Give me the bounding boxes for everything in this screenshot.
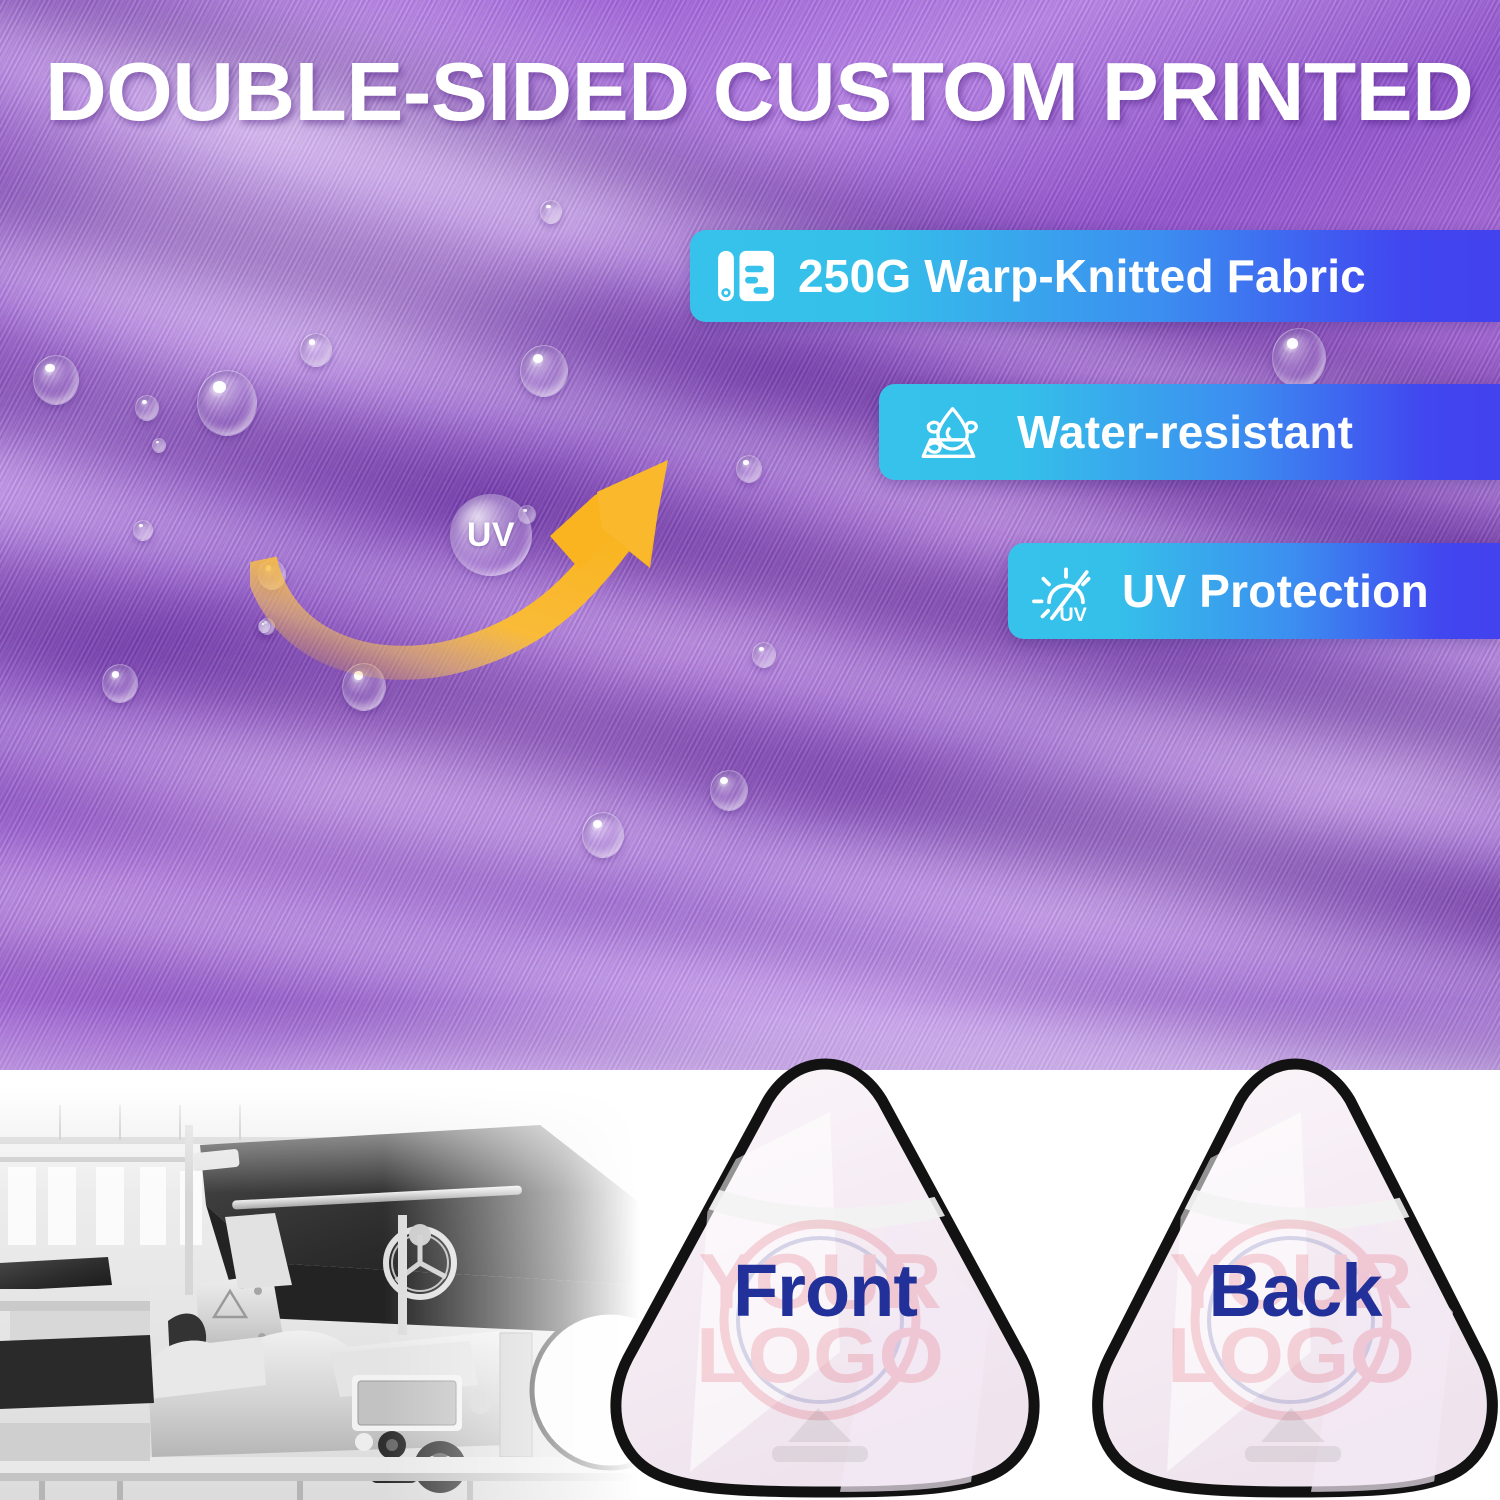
fabric-highlight [150, 690, 670, 920]
feature-badge-uv[interactable]: UV UV Protection [1008, 543, 1500, 639]
water-droplet [736, 455, 762, 483]
feature-badge-fabric-label: 250G Warp-Knitted Fabric [798, 249, 1406, 303]
water-droplet [133, 520, 153, 541]
feature-badge-uv-label: UV Protection [1122, 564, 1469, 618]
svg-text:UV: UV [1059, 604, 1087, 623]
fabric-background-image [0, 0, 1500, 1070]
water-droplet [1272, 328, 1326, 388]
water-droplet [152, 438, 166, 453]
factory-machine-photo [0, 1085, 640, 1500]
uv-bubble-badge: UV [450, 494, 532, 576]
water-droplet [135, 395, 159, 421]
water-droplet [710, 770, 748, 811]
banner-back-label: Back [1075, 1248, 1500, 1333]
water-droplet [197, 370, 257, 436]
uv-bubble-label: UV [467, 516, 515, 555]
banner-preview-front[interactable]: YOUR LOGO Front [590, 1052, 1060, 1500]
banner-preview-back[interactable]: YOUR LOGO Back [1075, 1052, 1500, 1500]
feature-badge-fabric[interactable]: 250G Warp-Knitted Fabric [690, 230, 1500, 322]
feature-badge-water[interactable]: Water-resistant [879, 384, 1500, 480]
water-droplet [582, 812, 624, 858]
water-droplet [752, 642, 776, 668]
fabric-highlight [900, 620, 1500, 880]
product-infographic: DOUBLE-SIDED CUSTOM PRINTED BANNER UV [0, 0, 1500, 1500]
water-droplet [300, 333, 332, 367]
water-droplet [102, 664, 138, 703]
water-droplet [33, 355, 79, 405]
water-droplet [540, 200, 562, 224]
banner-front-label: Front [590, 1248, 1060, 1333]
feature-badge-water-label: Water-resistant [1017, 405, 1399, 459]
page-title: DOUBLE-SIDED CUSTOM PRINTED BANNER [45, 50, 1500, 134]
water-drop-icon [915, 404, 981, 461]
water-droplet [520, 345, 568, 397]
fabric-roll-icon [716, 249, 776, 303]
sun-uv-icon: UV [1030, 559, 1102, 623]
